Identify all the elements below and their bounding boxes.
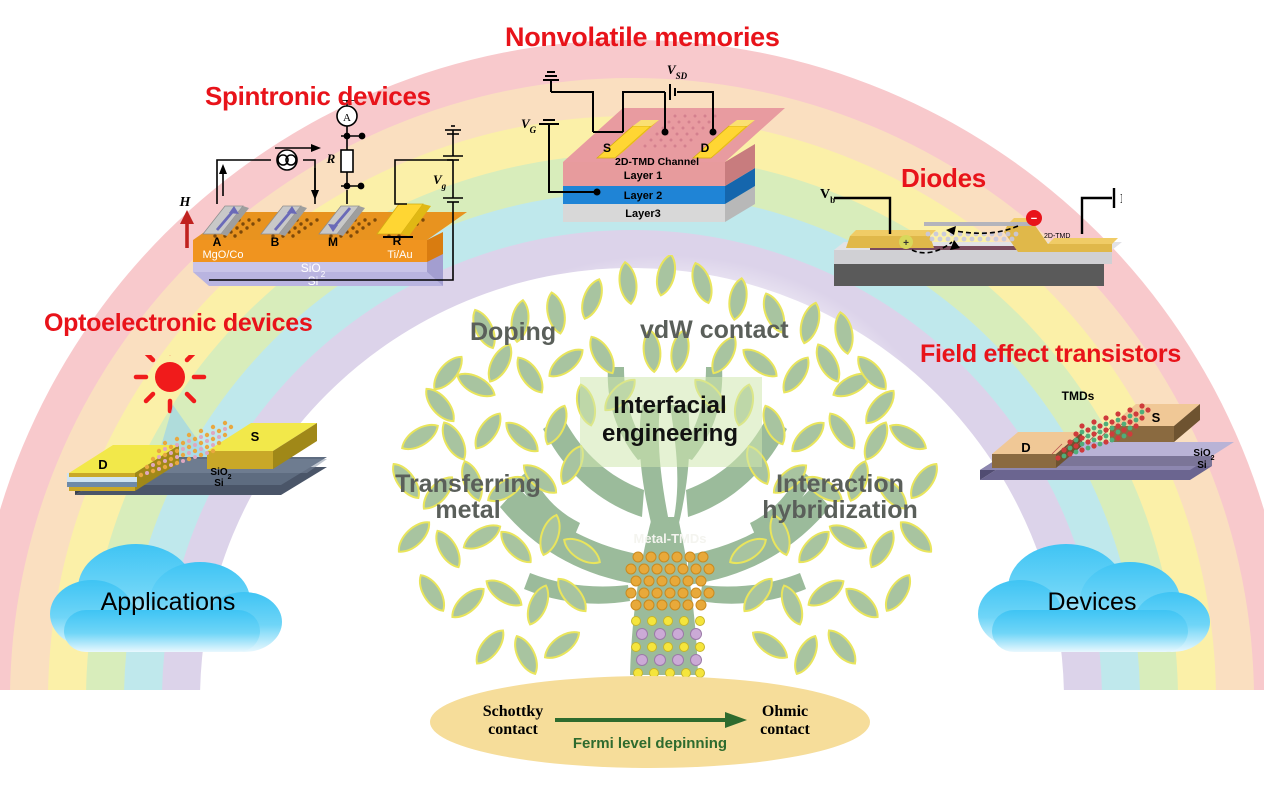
spintronic-substrate-label: Si xyxy=(308,274,319,288)
magnetic-field-indicator: H xyxy=(179,195,194,248)
opto-substrate-label: Si xyxy=(214,478,224,489)
spintronic-contact-material: Ti/Au xyxy=(387,249,412,261)
fet-material-label: TMDs xyxy=(1062,389,1095,403)
branch-label-vdw-contact: vdW contact xyxy=(640,316,789,345)
nonvolatile-memory-diagram: S D 2D-TMD Channel Layer 1 Layer 2 Layer… xyxy=(505,62,825,292)
gate-bias-label: Vg xyxy=(433,172,447,191)
ammeter-label: A xyxy=(343,112,351,124)
fermi-depinning-panel: Schottky contact Ohmic contact Fermi lev… xyxy=(425,672,875,772)
branch-label-interaction-line2: hybridization xyxy=(745,498,935,524)
memory-layer3-label: Layer3 xyxy=(625,208,660,220)
spintronic-pillar-label-B: B xyxy=(271,235,280,249)
diode-bias-label: Vb xyxy=(820,187,835,205)
heading-spintronic-devices: Spintronic devices xyxy=(205,81,431,112)
memory-source-label: S xyxy=(603,141,611,155)
memory-drain-node xyxy=(710,129,717,136)
spintronic-pillar-label-A: A xyxy=(213,235,222,249)
branch-label-transferring-metal-line2: metal xyxy=(383,498,553,524)
branch-label-interaction-hybridization: Interaction hybridization xyxy=(745,472,935,523)
branch-label-doping: Doping xyxy=(470,318,556,347)
fet-device-diagram: TMDs S D SiO2 Si xyxy=(960,370,1260,510)
memory-drain-label: D xyxy=(701,141,710,155)
diode-material-label: 2D-TMD xyxy=(1044,233,1070,240)
heading-nonvolatile-memories: Nonvolatile memories xyxy=(505,22,780,53)
ohmic-label-line1: Ohmic xyxy=(762,703,808,720)
memory-vg-label: VG xyxy=(521,116,537,135)
resistor-label: R xyxy=(326,151,336,166)
heading-field-effect-transistors-text: Field effect transistors xyxy=(920,340,1181,368)
memory-gate-node xyxy=(594,189,601,196)
magnetic-field-label: H xyxy=(179,195,192,210)
tree-center-label-line2: engineering xyxy=(602,420,738,447)
heading-diodes: Diodes xyxy=(901,163,986,194)
branch-label-interaction-line1: Interaction xyxy=(745,472,935,498)
fet-drain-label: D xyxy=(1021,440,1030,455)
electron-carrier-label: − xyxy=(1031,213,1037,225)
branch-label-vdw-contact-text: vdW contact xyxy=(640,316,789,344)
diode-current-label: I xyxy=(1120,192,1122,207)
heading-diodes-text: Diodes xyxy=(901,163,986,193)
current-source-circuit xyxy=(217,144,321,204)
branch-label-transferring-metal-line1: Transferring xyxy=(383,472,553,498)
memory-source-node xyxy=(662,129,669,136)
tree-center-label-line1: Interfacial xyxy=(613,392,726,419)
hole-carrier-label: + xyxy=(903,238,909,249)
memory-vsd-label: VSD xyxy=(667,62,688,81)
heading-nonvolatile-memories-text: Nonvolatile memories xyxy=(505,22,780,52)
opto-source-label: S xyxy=(251,429,260,444)
schottky-label-line2: contact xyxy=(488,721,538,738)
branch-label-doping-text: Doping xyxy=(470,318,556,346)
optoelectronic-device-diagram: S D SiO2 Si xyxy=(55,355,345,515)
ohmic-label-line2: contact xyxy=(760,721,810,738)
schottky-label-line1: Schottky xyxy=(483,703,543,720)
devices-cloud: Devices xyxy=(970,538,1220,668)
applications-cloud-label: Applications xyxy=(101,588,236,616)
heading-field-effect-transistors: Field effect transistors xyxy=(920,340,1181,369)
heading-spintronic-devices-text: Spintronic devices xyxy=(205,81,431,111)
devices-cloud-label: Devices xyxy=(1048,588,1137,616)
branch-label-transferring-metal: Transferring metal xyxy=(383,472,553,523)
memory-layer1-label: Layer 1 xyxy=(624,170,663,182)
spintronic-pillar-label-M: M xyxy=(328,235,338,249)
fet-source-label: S xyxy=(1152,410,1161,425)
sun-icon xyxy=(136,355,204,411)
opto-drain-label: D xyxy=(98,457,107,472)
depinning-arrow-label: Fermi level depinning xyxy=(573,735,727,752)
spintronic-pillar-material: MgO/Co xyxy=(203,249,244,261)
memory-channel-label: 2D-TMD Channel xyxy=(615,156,699,168)
fet-substrate-label: Si xyxy=(1197,460,1207,471)
heading-optoelectronic-devices: Optoelectronic devices xyxy=(44,309,313,338)
spintronic-device-diagram: A B M R MgO/Co Ti/Au SiO2 Si H xyxy=(175,100,485,300)
figure-canvas: Interfacial engineering Metal-TMDs Dopin… xyxy=(0,0,1264,785)
trunk-label: Metal-TMDs xyxy=(634,531,707,546)
memory-layer2-label: Layer 2 xyxy=(624,190,663,202)
heading-optoelectronic-devices-text: Optoelectronic devices xyxy=(44,309,313,337)
diode-bias-circuit xyxy=(834,188,1114,234)
applications-cloud: Applications xyxy=(48,538,298,668)
